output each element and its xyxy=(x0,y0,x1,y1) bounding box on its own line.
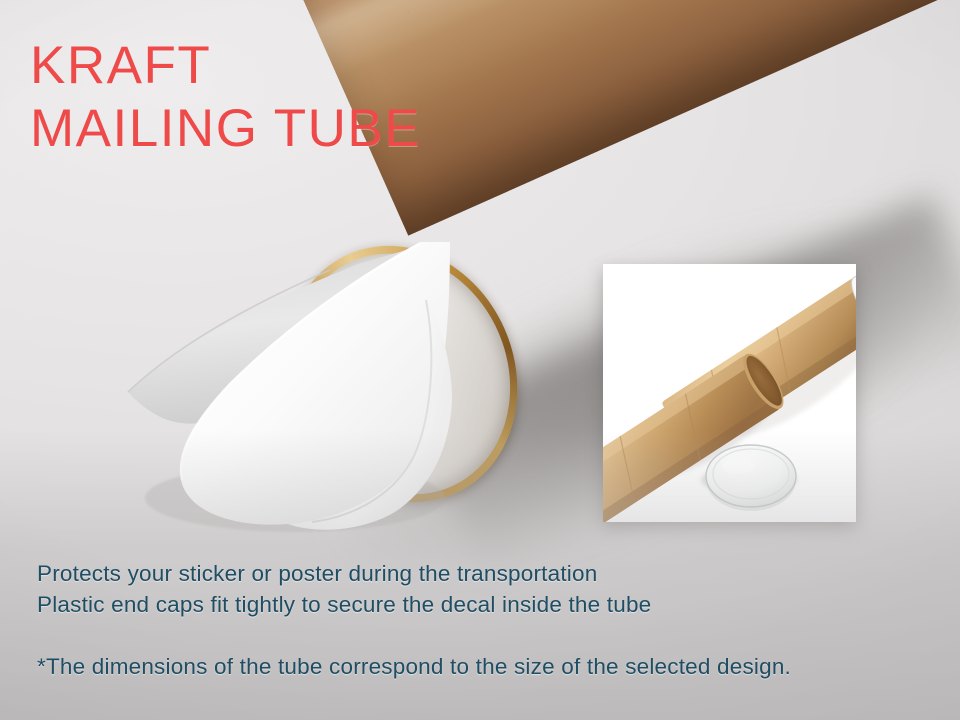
white-poster-sheet xyxy=(120,240,520,540)
feature-list: Protects your sticker or poster during t… xyxy=(37,558,651,620)
inset-product-photo xyxy=(603,264,856,522)
feature-item: Plastic end caps fit tightly to secure t… xyxy=(37,589,651,620)
poster-canvas: KRAFTMAILING TUBE Protects your sticker … xyxy=(0,0,960,720)
headline-line-1: KRAFT xyxy=(30,36,211,95)
feature-item: Protects your sticker or poster during t… xyxy=(37,558,651,589)
headline: KRAFTMAILING TUBE xyxy=(30,34,421,160)
footnote: *The dimensions of the tube correspond t… xyxy=(37,654,791,680)
headline-line-2: MAILING TUBE xyxy=(30,97,421,160)
